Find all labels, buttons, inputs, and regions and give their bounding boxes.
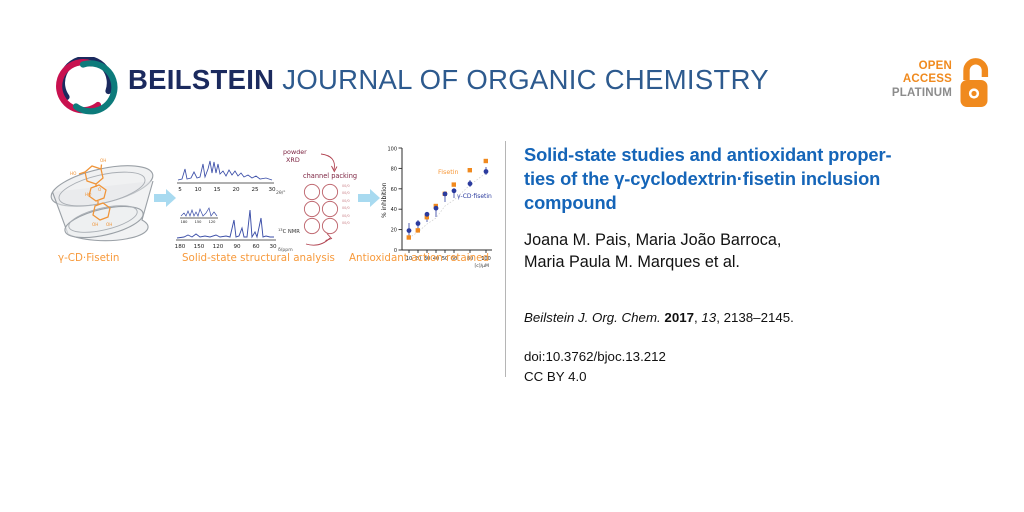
nmr-tick-60: 60 (252, 244, 260, 250)
arrow-right-icon-2 (358, 189, 380, 207)
svg-text:00/0: 00/0 (342, 199, 350, 203)
nmr-tick-120: 120 (213, 244, 224, 250)
series-label-gamma-cd-fisetin: γ-CD·fisetin (457, 193, 492, 200)
nmr-tick-180: 180 (175, 244, 186, 250)
nmr-tick-150: 150 (194, 244, 205, 250)
y-tick-60: 60 (391, 187, 397, 193)
journal-wordmark-bold: BEILSTEIN (128, 64, 274, 95)
channel-packing-annotations: 00/000/0 00/000/0 00/000/0 (342, 184, 350, 225)
caption-panel-2: Solid-state structural analysis (182, 252, 335, 264)
open-access-line-open: OPEN (888, 60, 952, 73)
svg-text:00/0: 00/0 (342, 206, 350, 210)
article-metadata: Solid-state studies and antioxidant prop… (524, 143, 964, 386)
svg-text:OH: OH (100, 158, 106, 163)
nmr-tick-90: 90 (233, 244, 241, 250)
svg-text:00/0: 00/0 (342, 184, 350, 188)
xrd-tick-25: 25 (251, 187, 259, 193)
open-lock-icon (958, 58, 992, 110)
nmr-inset-tick-120: 120 (209, 220, 217, 224)
journal-wordmark-light: JOURNAL OF ORGANIC CHEMISTRY (282, 64, 769, 95)
channel-packing-label: channel packing (303, 172, 357, 180)
svg-text:powder: powder (283, 148, 307, 156)
panel-solid-state-analysis: 5 10 15 20 25 30 2θ/° powder XRD (175, 148, 357, 253)
xrd-tick-5: 5 (178, 187, 182, 193)
svg-text:HO: HO (85, 192, 92, 197)
article-citation: Beilstein J. Org. Chem. 2017, 13, 2138–2… (524, 309, 964, 328)
vertical-divider (505, 141, 506, 377)
open-access-line-platinum: PLATINUM (888, 87, 952, 100)
y-tick-100: 100 (387, 147, 397, 153)
citation-volume: 13 (701, 310, 716, 325)
xrd-tick-10: 10 (194, 187, 202, 193)
nmr-trace: 180 150 120 180 150 120 90 60 30 (175, 208, 301, 253)
svg-text:HO: HO (70, 171, 77, 176)
open-access-line-access: ACCESS (888, 73, 952, 86)
nmr-nucleus-label: 13C NMR (278, 228, 300, 235)
graphical-abstract-captions: γ-CD·Fisetin Solid-state structural anal… (40, 252, 500, 270)
nmr-inset-tick-150: 150 (195, 220, 203, 224)
article-authors-line-1: Joana M. Pais, Maria João Barroca, (524, 231, 781, 249)
svg-text:00/0: 00/0 (342, 214, 350, 218)
svg-text:OH: OH (106, 222, 112, 227)
poster-page: BEILSTEIN JOURNAL OF ORGANIC CHEMISTRY O… (0, 0, 1024, 512)
series-gamma-cd-fisetin-points (407, 169, 489, 233)
channel-packing-diagram: channel packing 00/000/0 00/000/0 00/000… (303, 172, 357, 234)
article-title: Solid-state studies and antioxidant prop… (524, 143, 964, 215)
xrd-trace: 5 10 15 20 25 30 2θ/° (177, 161, 286, 196)
y-axis-label: % inhibition (381, 182, 388, 218)
panel-antioxidant-chart: 0 20 40 60 80 100 % inhibition (381, 147, 492, 270)
series-label-fisetin: Fisetin (438, 168, 459, 176)
article-doi[interactable]: doi:10.3762/bjoc.13.212 (524, 347, 964, 366)
article-authors: Joana M. Pais, Maria João Barroca, Maria… (524, 229, 964, 273)
citation-year: 2017 (664, 310, 694, 325)
journal-header: BEILSTEIN JOURNAL OF ORGANIC CHEMISTRY O… (0, 0, 1024, 140)
xrd-tick-30: 30 (268, 187, 276, 193)
svg-text:XRD: XRD (286, 156, 300, 164)
panel-cyclodextrin-structure: OH HO O HO OH OH (48, 158, 157, 244)
y-tick-80: 80 (391, 166, 397, 172)
open-access-labels: OPEN ACCESS PLATINUM (888, 60, 952, 100)
nmr-inset-tick-180: 180 (181, 220, 189, 224)
arrow-right-icon-1 (154, 189, 176, 207)
powder-xrd-label: powder XRD (283, 148, 337, 172)
y-tick-20: 20 (391, 228, 397, 234)
article-title-line-3: compound (524, 192, 617, 213)
open-access-badge: OPEN ACCESS PLATINUM (888, 58, 992, 114)
citation-pages: 2138–2145. (724, 310, 794, 325)
y-tick-40: 40 (391, 207, 397, 213)
curved-arrow-icon-2 (306, 238, 330, 245)
article-license: CC BY 4.0 (524, 367, 964, 386)
xrd-tick-20: 20 (232, 187, 240, 193)
nmr-tick-30: 30 (269, 244, 277, 250)
article-title-line-2: ties of the γ-cyclodextrin·fisetin inclu… (524, 168, 880, 189)
xrd-tick-15: 15 (213, 187, 221, 193)
xrd-axis-label: 2θ/° (276, 190, 286, 196)
caption-panel-1: γ-CD·Fisetin (58, 252, 119, 264)
journal-wordmark: BEILSTEIN JOURNAL OF ORGANIC CHEMISTRY (128, 66, 769, 94)
caption-panel-3: Antioxidant action retained (349, 252, 489, 264)
article-authors-line-2: Maria Paula M. Marques et al. (524, 253, 740, 271)
svg-text:OH: OH (92, 222, 98, 227)
svg-text:00/0: 00/0 (342, 191, 350, 195)
beilstein-triple-arc-logo-icon (56, 57, 118, 119)
svg-text:00/0: 00/0 (342, 221, 350, 225)
article-title-line-1: Solid-state studies and antioxidant prop… (524, 144, 891, 165)
citation-journal: Beilstein J. Org. Chem. (524, 310, 661, 325)
